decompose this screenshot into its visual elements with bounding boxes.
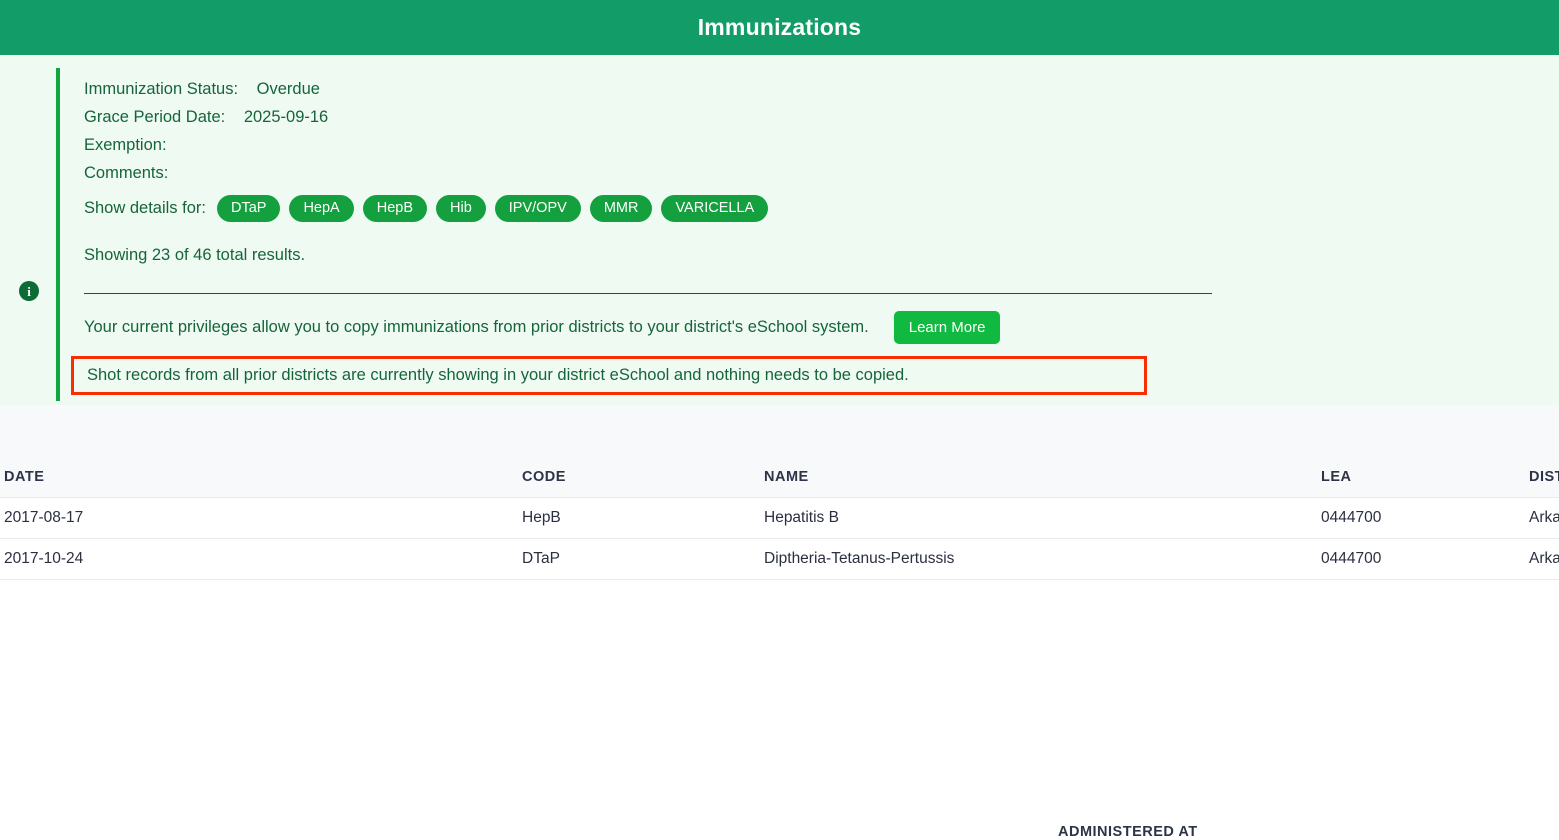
cell-date: 2017-10-24 [0,539,263,580]
vaccine-pill-dtap[interactable]: DTaP [217,195,280,222]
immunization-info-panel: i Immunization Status: Overdue Grace Per… [0,55,1559,405]
vaccine-pill-varicella[interactable]: VARICELLA [661,195,768,222]
highlight-text: Shot records from all prior districts ar… [87,366,909,384]
cell-name: Diptheria-Tetanus-Pertussis [764,539,1321,580]
panel-divider [84,293,1212,294]
status-value: Overdue [257,80,320,98]
table-head: DATE CODE NAME LEA DISTRICT [0,405,1559,498]
privilege-row: Your current privileges allow you to cop… [84,311,1559,344]
learn-more-button[interactable]: Learn More [894,311,1001,344]
show-details-row: Show details for: DTaP HepA HepB Hib IPV… [84,195,1559,222]
status-lines: Immunization Status: Overdue Grace Perio… [84,55,1559,187]
cell-code: DTaP [263,539,764,580]
cell-code: HepB [263,498,764,539]
column-header-name[interactable]: NAME [764,405,1321,498]
privilege-text: Your current privileges allow you to cop… [84,318,869,337]
status-label: Comments: [84,164,168,182]
column-header-date[interactable]: DATE [0,405,263,498]
column-header-district[interactable]: DISTRICT [1529,405,1559,498]
column-header-lea[interactable]: LEA [1321,405,1529,498]
panel-accent-bar [56,68,60,401]
table-row[interactable]: 2017-10-24 DTaP Diptheria-Tetanus-Pertus… [0,539,1559,580]
status-line-comments: Comments: [84,159,1559,187]
showing-results-text: Showing 23 of 46 total results. [84,246,1559,265]
page-title: Immunizations [698,14,862,41]
cell-lea: 0444700 [1321,539,1529,580]
status-line-immunization-status: Immunization Status: Overdue [84,75,1559,103]
vaccine-pill-ipv-opv[interactable]: IPV/OPV [495,195,581,222]
cell-district: Arkansas Connections Academy [1529,498,1559,539]
table-body: 2017-08-17 HepB Hepatitis B 0444700 Arka… [0,498,1559,580]
status-line-grace-period-date: Grace Period Date: 2025-09-16 [84,103,1559,131]
status-label: Grace Period Date: [84,108,225,126]
status-label: Immunization Status: [84,80,238,98]
table-group-header-administered-at: ADMINISTERED AT [1058,824,1198,840]
status-line-exemption: Exemption: [84,131,1559,159]
column-header-code[interactable]: CODE [263,405,764,498]
status-label: Exemption: [84,136,167,154]
immunizations-page: Immunizations i Immunization Status: Ove… [0,0,1559,550]
info-icon[interactable]: i [19,281,39,301]
status-value: 2025-09-16 [244,108,328,126]
page-header: Immunizations [0,0,1559,55]
cell-date: 2017-08-17 [0,498,263,539]
vaccine-pill-hepb[interactable]: HepB [363,195,427,222]
immunizations-table: DATE CODE NAME LEA DISTRICT 2017-08-17 H… [0,405,1559,580]
immunizations-table-wrap: ADMINISTERED AT DATE CODE NAME LEA DISTR… [0,405,1559,580]
table-row[interactable]: 2017-08-17 HepB Hepatitis B 0444700 Arka… [0,498,1559,539]
cell-name: Hepatitis B [764,498,1321,539]
table-header-row: DATE CODE NAME LEA DISTRICT [0,405,1559,498]
cell-lea: 0444700 [1321,498,1529,539]
vaccine-pill-mmr[interactable]: MMR [590,195,653,222]
highlight-callout-box: Shot records from all prior districts ar… [71,356,1147,395]
vaccine-pill-hib[interactable]: Hib [436,195,486,222]
panel-body: Immunization Status: Overdue Grace Perio… [84,55,1559,395]
show-details-label: Show details for: [84,199,206,218]
cell-district: Arkansas Connections Academy [1529,539,1559,580]
vaccine-pill-hepa[interactable]: HepA [289,195,353,222]
